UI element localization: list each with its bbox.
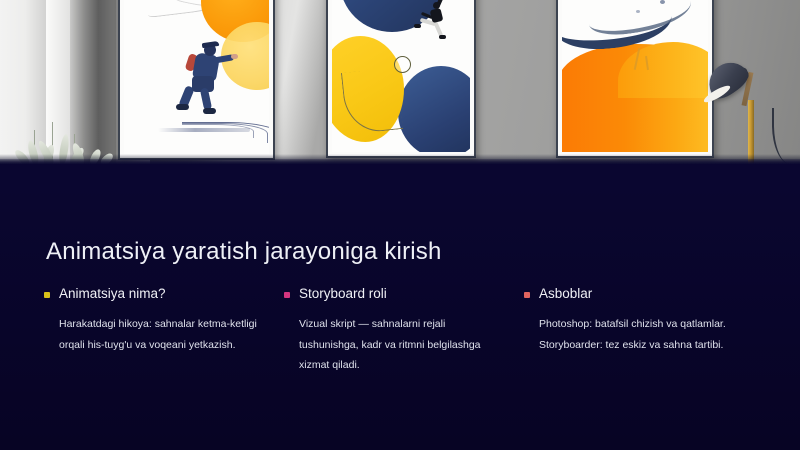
splash-dot-2	[660, 0, 665, 4]
runner-front-shoe	[203, 108, 216, 114]
motion-line-1	[182, 122, 269, 148]
column-3-header: Asboblar	[524, 286, 764, 302]
column-1-header: Animatsiya nima?	[44, 286, 284, 302]
ground-shadow	[158, 128, 250, 132]
runner-back-shoe	[176, 104, 189, 110]
column-2-title: Storyboard roli	[299, 286, 387, 302]
bullet-square-icon	[524, 292, 530, 298]
tennis-shoe-2	[439, 35, 446, 39]
column-animatsiya-nima: Animatsiya nima? Harakatdagi hikoya: sah…	[44, 286, 284, 376]
presentation-slide: Animatsiya yaratish jarayoniga kirish An…	[0, 0, 800, 450]
racket-ring-icon	[394, 56, 411, 73]
column-2-header: Storyboard roli	[284, 286, 524, 302]
image-bottom-fade	[0, 159, 800, 164]
navy-circle-right	[398, 66, 470, 152]
tennis-poster-art	[332, 0, 470, 152]
tennis-head	[433, 2, 440, 9]
content-columns: Animatsiya nima? Harakatdagi hikoya: sah…	[44, 286, 768, 376]
splash-dot-3	[636, 10, 640, 13]
column-2-body: Vizual skript — sahnalarni rejali tushun…	[299, 314, 499, 375]
column-storyboard-roli: Storyboard roli Vizual skript — sahnalar…	[284, 286, 524, 376]
column-3-title: Asboblar	[539, 286, 592, 302]
bullet-square-icon	[284, 292, 290, 298]
wave-poster	[556, 0, 714, 158]
column-1-body: Harakatdagi hikoya: sahnalar ketma-ketli…	[59, 314, 259, 355]
tennis-shoe-1	[414, 24, 421, 28]
runner-poster-art	[124, 0, 269, 154]
hero-image	[0, 0, 800, 164]
runner-poster	[118, 0, 275, 160]
bullet-square-icon	[44, 292, 50, 298]
tennis-poster	[326, 0, 476, 158]
slide-title: Animatsiya yaratish jarayoniga kirish	[46, 238, 442, 266]
column-asboblar: Asboblar Photoshop: batafsil chizish va …	[524, 286, 764, 376]
column-3-body: Photoshop: batafsil chizish va qatlamlar…	[539, 314, 739, 355]
runner-hand	[231, 54, 238, 59]
wave-poster-art	[562, 0, 708, 152]
column-1-title: Animatsiya nima?	[59, 286, 166, 302]
